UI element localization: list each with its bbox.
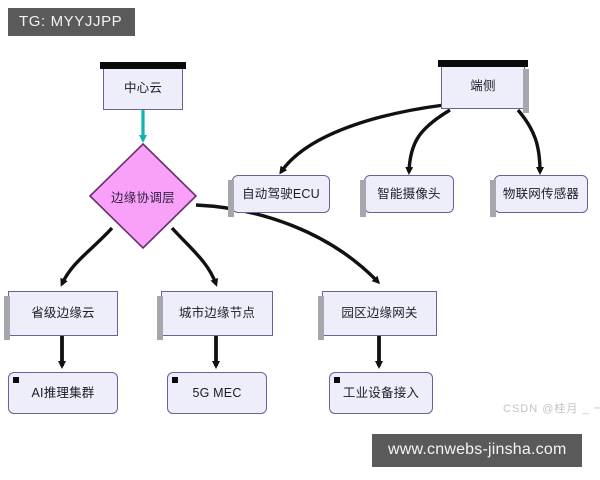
site-url-banner: www.cnwebs-jinsha.com [372,434,582,467]
node-smart-camera-label: 智能摄像头 [377,187,441,201]
node-iot-sensor-label: 物联网传感器 [503,187,579,201]
node-ai-cluster-label: AI推理集群 [31,386,94,400]
node-park-gateway-label: 园区边缘网关 [341,306,417,320]
diagram-canvas: 中心云 边缘协调层 端侧 自动驾驶ECU 智能摄像头 物联网传感器 省级边缘云 … [0,0,600,480]
node-industrial-dev-label: 工业设备接入 [343,386,419,400]
node-edge-coord[interactable]: 边缘协调层 [88,142,198,250]
node-device-side[interactable]: 端侧 [441,64,525,109]
node-center-cloud[interactable]: 中心云 [103,66,183,110]
node-city-edge-node[interactable]: 城市边缘节点 [161,291,273,336]
node-province-cloud[interactable]: 省级边缘云 [8,291,118,336]
node-province-cloud-label: 省级边缘云 [31,306,95,320]
csdn-watermark: CSDN @桂月 _ 一 [503,400,600,416]
node-auto-drive-ecu[interactable]: 自动驾驶ECU [232,175,330,213]
tg-tag-badge: TG: MYYJJPP [8,8,135,36]
node-park-gateway[interactable]: 园区边缘网关 [322,291,437,336]
node-iot-sensor[interactable]: 物联网传感器 [494,175,588,213]
node-industrial-dev[interactable]: 工业设备接入 [329,372,433,414]
node-auto-drive-ecu-label: 自动驾驶ECU [242,187,320,201]
edge-device-side-to-iot-sensor [518,110,540,172]
edge-edge-coord-to-park-gateway [196,205,378,282]
node-edge-coord-label: 边缘协调层 [88,142,198,250]
node-device-side-label: 端侧 [470,79,495,93]
node-city-edge-node-label: 城市边缘节点 [179,306,255,320]
node-smart-camera[interactable]: 智能摄像头 [364,175,454,213]
node-5g-mec-label: 5G MEC [192,386,241,400]
edge-device-side-to-smart-camera [409,110,450,172]
node-ai-cluster[interactable]: AI推理集群 [8,372,118,414]
edge-device-side-to-auto-drive-ecu [281,105,444,172]
node-center-cloud-label: 中心云 [124,81,162,95]
node-5g-mec[interactable]: 5G MEC [167,372,267,414]
